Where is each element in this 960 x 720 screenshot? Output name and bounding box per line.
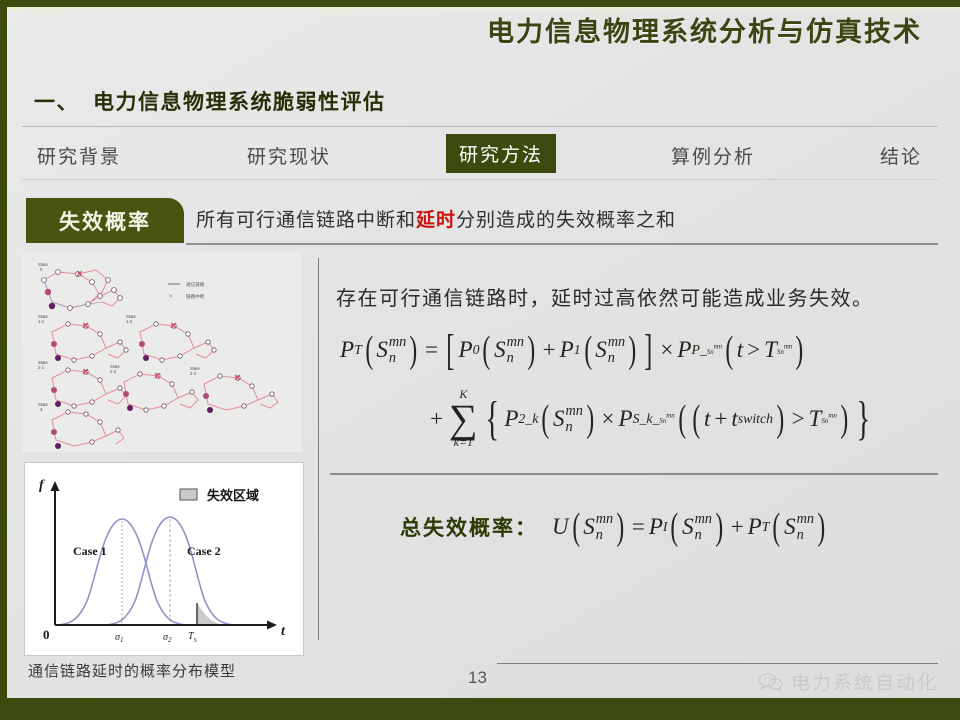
page-title: 一、电力信息物理系统脆弱性评估 (34, 86, 386, 116)
svg-text:1-2: 1-2 (126, 319, 133, 324)
subtitle-text: 所有可行通信链路中断和延时分别造成的失效概率之和 (196, 205, 676, 232)
bottom-accent-bar (0, 698, 960, 720)
legend-label: 失效区域 (207, 488, 259, 503)
delay-distribution-svg: f t 0 σ1 σ2 TS Case 1 Case 2 失效区域 (25, 463, 301, 653)
tab-research-method[interactable]: 研究方法 (446, 134, 556, 173)
brand-label: 电力系统自动化 (791, 668, 938, 695)
footer-divider (497, 663, 938, 664)
network-diagram-svg: State0 State1-1 State1-2 State2-1 State2… (22, 252, 302, 452)
tab-research-background[interactable]: 研究背景 (28, 137, 130, 174)
annotation-case2: Case 2 (187, 544, 221, 558)
svg-text:1-1: 1-1 (38, 319, 45, 324)
legend-swatch (180, 489, 197, 500)
network-state-diagram: State0 State1-1 State1-2 State2-1 State2… (22, 252, 302, 452)
svg-text:链路中断: 链路中断 (186, 293, 205, 300)
subtitle-after: 分别造成的失效概率之和 (456, 210, 676, 231)
svg-text:通信链路: 通信链路 (186, 281, 205, 288)
svg-text:×: × (169, 294, 173, 300)
annotation-case1: Case 1 (73, 544, 107, 558)
svg-text:2-3: 2-3 (190, 371, 197, 376)
subtitle-highlight: 延时 (416, 210, 456, 231)
svg-text:2-1: 2-1 (38, 365, 45, 370)
page-number: 13 (468, 668, 487, 688)
subtitle-before: 所有可行通信链路中断和 (196, 210, 416, 231)
horizontal-divider (330, 473, 938, 475)
nav-tabs: 研究背景 研究现状 研究方法 算例分析 结论 (22, 131, 938, 177)
total-probability-label: 总失效概率： (400, 512, 538, 542)
nav-divider (22, 179, 938, 180)
tab-research-status[interactable]: 研究现状 (238, 137, 340, 174)
svg-text:2-2: 2-2 (110, 369, 117, 374)
top-accent-bar (0, 0, 960, 7)
brand: 电力系统自动化 (758, 668, 938, 695)
statement-text: 存在可行通信链路时，延时过高依然可能造成业务失效。 (336, 282, 874, 311)
formula-total-probability: 总失效概率： U (Smnn) = PI (Smnn) + PT (Smnn) (400, 505, 829, 549)
tab-case-analysis[interactable]: 算例分析 (662, 137, 764, 174)
section-title: 电力信息物理系统脆弱性评估 (93, 90, 386, 114)
vertical-divider (318, 258, 319, 640)
header-divider (22, 126, 938, 127)
subtitle-divider (186, 243, 938, 245)
tab-conclusion[interactable]: 结论 (871, 137, 931, 174)
formula-failure-probability: PT ( Smnn ) = [ P0 (Smnn) + P1 (Smnn) ] … (340, 325, 930, 445)
slide-root: 电力信息物理系统分析与仿真技术 一、电力信息物理系统脆弱性评估 研究背景 研究现… (0, 0, 960, 720)
wechat-icon (758, 672, 784, 692)
delay-distribution-chart: f t 0 σ1 σ2 TS Case 1 Case 2 失效区域 (24, 462, 304, 656)
section-number: 一、 (34, 90, 79, 114)
slide-title: 电力信息物理系统分析与仿真技术 (487, 10, 922, 49)
status-badge: 失效概率 (26, 198, 184, 243)
origin-label: 0 (43, 627, 50, 642)
chart-caption: 通信链路延时的概率分布模型 (28, 660, 236, 681)
left-accent-bar (0, 0, 7, 720)
